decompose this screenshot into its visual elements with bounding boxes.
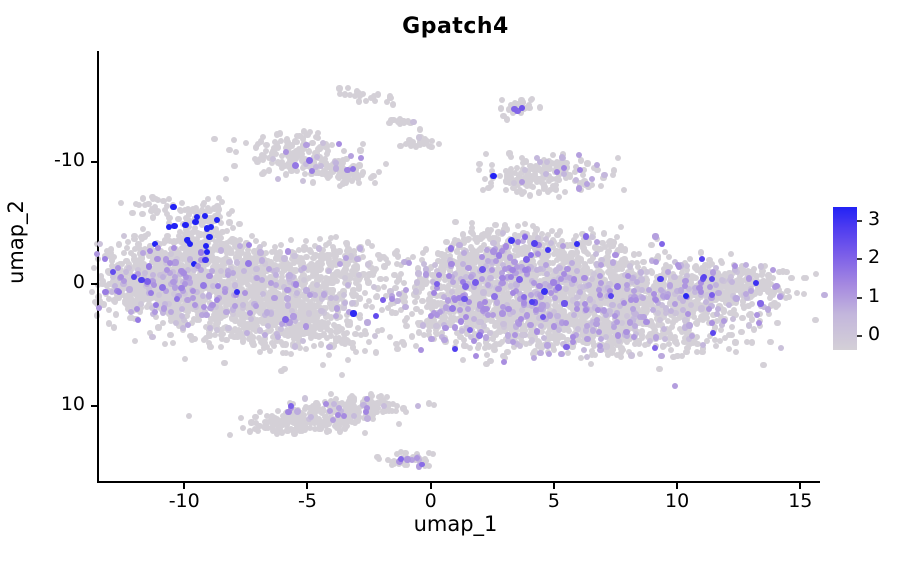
scatter-point — [339, 372, 345, 378]
scatter-point — [250, 334, 256, 340]
scatter-point — [162, 237, 168, 243]
scatter-point — [767, 339, 773, 345]
scatter-point — [741, 305, 747, 311]
scatter-point — [726, 346, 732, 352]
scatter-point — [345, 357, 351, 363]
scatter-point — [173, 320, 179, 326]
scatter-point — [372, 333, 378, 339]
scatter-point — [563, 320, 569, 326]
scatter-point — [685, 311, 691, 317]
scatter-point — [306, 310, 312, 316]
scatter-point — [657, 276, 663, 282]
scatter-point — [636, 251, 642, 257]
scatter-point — [185, 322, 191, 328]
scatter-point — [288, 237, 294, 243]
scatter-point — [637, 351, 643, 357]
scatter-point — [168, 251, 174, 257]
scatter-point — [106, 307, 112, 313]
scatter-point — [383, 276, 389, 282]
scatter-point — [179, 200, 185, 206]
scatter-point — [541, 335, 547, 341]
scatter-point — [342, 331, 348, 337]
scatter-point — [788, 275, 794, 281]
scatter-point — [284, 295, 290, 301]
scatter-point — [450, 316, 456, 322]
scatter-point — [420, 250, 426, 256]
scatter-point — [402, 304, 408, 310]
scatter-point — [206, 208, 212, 214]
scatter-point — [551, 323, 557, 329]
scatter-point — [235, 252, 241, 258]
scatter-point — [639, 332, 645, 338]
scatter-point — [435, 251, 441, 257]
scatter-point — [185, 206, 191, 212]
scatter-point — [363, 303, 369, 309]
scatter-point — [738, 329, 744, 335]
scatter-point — [285, 248, 291, 254]
scatter-point — [142, 270, 148, 276]
scatter-point — [522, 221, 528, 227]
scatter-point — [618, 345, 624, 351]
scatter-point — [179, 313, 185, 319]
scatter-point — [581, 347, 587, 353]
scatter-point — [601, 318, 607, 324]
scatter-point — [139, 235, 145, 241]
scatter-point — [573, 233, 579, 239]
scatter-point — [218, 344, 224, 350]
scatter-point — [461, 342, 467, 348]
scatter-point — [96, 305, 102, 311]
scatter-point — [521, 300, 527, 306]
scatter-point — [534, 328, 540, 334]
scatter-point — [343, 255, 349, 261]
scatter-point — [328, 235, 334, 241]
scatter-point — [253, 238, 259, 244]
scatter-point — [179, 306, 185, 312]
scatter-point — [554, 232, 560, 238]
scatter-point — [244, 330, 250, 336]
scatter-point — [149, 334, 155, 340]
scatter-point — [330, 287, 336, 293]
scatter-point — [171, 223, 177, 229]
scatter-point — [331, 322, 337, 328]
scatter-point — [776, 269, 782, 275]
scatter-point — [170, 279, 176, 285]
scatter-point — [261, 345, 267, 351]
scatter-point — [263, 250, 269, 256]
scatter-point — [285, 302, 291, 308]
scatter-point — [469, 247, 475, 253]
scatter-point — [812, 317, 818, 323]
scatter-point — [214, 217, 220, 223]
scatter-point — [318, 341, 324, 347]
scatter-point — [192, 219, 198, 225]
scatter-point — [94, 251, 100, 257]
scatter-point — [260, 270, 266, 276]
scatter-point — [728, 251, 734, 257]
scatter-point — [203, 312, 209, 318]
scatter-point — [170, 204, 176, 210]
scatter-point — [593, 321, 599, 327]
scatter-point — [362, 290, 368, 296]
scatter-point — [710, 330, 716, 336]
scatter-point — [132, 338, 138, 344]
scatter-point — [452, 219, 458, 225]
scatter-point — [278, 242, 284, 248]
scatter-point — [760, 362, 766, 368]
scatter-point — [615, 332, 621, 338]
scatter-point — [457, 334, 463, 340]
scatter-point — [460, 231, 466, 237]
scatter-point — [389, 309, 395, 315]
scatter-point — [284, 287, 290, 293]
scatter-point — [321, 291, 327, 297]
scatter-point — [111, 297, 117, 303]
scatter-point — [774, 320, 780, 326]
scatter-point — [441, 284, 447, 290]
scatter-point — [540, 314, 546, 320]
scatter-point — [409, 311, 415, 317]
scatter-point — [369, 304, 375, 310]
scatter-point — [728, 332, 734, 338]
scatter-point — [394, 298, 400, 304]
scatter-point — [398, 271, 404, 277]
scatter-point — [612, 252, 618, 258]
scatter-point — [666, 254, 672, 260]
scatter-point — [621, 300, 627, 306]
scatter-point — [601, 230, 607, 236]
scatter-point — [201, 304, 207, 310]
scatter-point — [246, 242, 252, 248]
scatter-point — [280, 350, 286, 356]
scatter-point — [166, 224, 172, 230]
scatter-point — [171, 245, 177, 251]
scatter-point — [153, 302, 159, 308]
scatter-point — [116, 289, 122, 295]
scatter-point — [739, 315, 745, 321]
scatter-point — [344, 262, 350, 268]
scatter-point — [729, 324, 735, 330]
scatter-point — [222, 289, 228, 295]
scatter-point — [318, 308, 324, 314]
scatter-point — [640, 259, 646, 265]
scatter-point — [418, 285, 424, 291]
scatter-point — [544, 342, 550, 348]
scatter-point — [342, 275, 348, 281]
scatter-point — [465, 236, 471, 242]
scatter-point — [162, 341, 168, 347]
scatter-point — [395, 253, 401, 259]
scatter-point — [476, 319, 482, 325]
scatter-point — [215, 211, 221, 217]
scatter-point — [399, 339, 405, 345]
scatter-point — [618, 224, 624, 230]
scatter-point — [167, 332, 173, 338]
scatter-point — [260, 284, 266, 290]
scatter-point — [332, 252, 338, 258]
scatter-point — [749, 339, 755, 345]
scatter-point — [104, 248, 110, 254]
scatter-point — [281, 255, 287, 261]
scatter-point — [351, 264, 357, 270]
scatter-point — [236, 327, 242, 333]
scatter-point — [200, 202, 206, 208]
scatter-point — [599, 240, 605, 246]
scatter-point — [373, 266, 379, 272]
scatter-point — [394, 346, 400, 352]
scatter-point — [327, 278, 333, 284]
scatter-point — [164, 267, 170, 273]
scatter-point — [420, 322, 426, 328]
scatter-point — [419, 298, 425, 304]
scatter-point — [373, 349, 379, 355]
scatter-point — [155, 324, 161, 330]
scatter-point — [366, 339, 372, 345]
scatter-point — [205, 196, 211, 202]
scatter-point — [182, 222, 188, 228]
scatter-point — [623, 329, 629, 335]
scatter-point — [345, 282, 351, 288]
scatter-point — [320, 362, 326, 368]
scatter-point — [154, 256, 160, 262]
scatter-point — [113, 311, 119, 317]
scatter-point — [350, 287, 356, 293]
scatter-point — [253, 266, 259, 272]
scatter-point — [684, 345, 690, 351]
umap-feature-plot: Gpatch4 -10-5051015 100-10 umap_1 umap_2… — [0, 0, 911, 562]
scatter-point — [146, 263, 152, 269]
scatter-point — [123, 269, 129, 275]
scatter-point — [267, 348, 273, 354]
scatter-point — [334, 305, 340, 311]
scatter-point — [147, 248, 153, 254]
scatter-point — [160, 198, 166, 204]
scatter-point — [221, 360, 227, 366]
scatter-point — [172, 284, 178, 290]
scatter-point — [218, 247, 224, 253]
scatter-point — [515, 252, 521, 258]
scatter-point — [733, 349, 739, 355]
scatter-point — [202, 213, 208, 219]
scatter-point — [102, 256, 108, 262]
scatter-point — [821, 292, 827, 298]
scatter-point — [207, 325, 213, 331]
scatter-point — [674, 353, 680, 359]
scatter-point — [593, 251, 599, 257]
scatter-point — [656, 366, 662, 372]
scatter-point — [553, 248, 559, 254]
scatter-point — [598, 336, 604, 342]
scatter-point — [548, 290, 554, 296]
scatter-point — [206, 292, 212, 298]
scatter-point — [232, 303, 238, 309]
scatter-point — [391, 272, 397, 278]
scatter-point — [260, 338, 266, 344]
scatter-point — [801, 291, 807, 297]
scatter-point — [150, 214, 156, 220]
scatter-point — [271, 343, 277, 349]
scatter-point — [182, 356, 188, 362]
scatter-point — [268, 280, 274, 286]
scatter-point — [290, 313, 296, 319]
scatter-point — [198, 249, 204, 255]
scatter-point — [333, 313, 339, 319]
scatter-point — [326, 352, 332, 358]
scatter-point — [317, 236, 323, 242]
scatter-point — [713, 343, 719, 349]
scatter-point — [480, 289, 486, 295]
scatter-point — [116, 241, 122, 247]
scatter-point — [487, 358, 493, 364]
scatter-point — [379, 307, 385, 313]
scatter-point — [152, 309, 158, 315]
scatter-point — [558, 351, 564, 357]
scatter-point — [428, 336, 434, 342]
scatter-point — [352, 331, 358, 337]
scatter-point — [214, 297, 220, 303]
scatter-point — [794, 290, 800, 296]
scatter-point — [282, 341, 288, 347]
scatter-point — [668, 347, 674, 353]
scatter-point — [539, 302, 545, 308]
scatter-point — [721, 307, 727, 313]
scatter-point — [172, 259, 178, 265]
scatter-point — [460, 357, 466, 363]
scatter-point — [129, 210, 135, 216]
scatter-point — [131, 236, 137, 242]
scatter-point — [232, 318, 238, 324]
scatter-point — [410, 254, 416, 260]
scatter-point — [695, 318, 701, 324]
scatter-point — [565, 350, 571, 356]
scatter-point — [588, 361, 594, 367]
scatter-point — [234, 289, 240, 295]
scatter-point — [344, 338, 350, 344]
scatter-point — [273, 282, 279, 288]
scatter-point — [582, 301, 588, 307]
scatter-point — [311, 343, 317, 349]
scatter-point — [403, 323, 409, 329]
scatter-point — [140, 195, 146, 201]
scatter-point — [230, 225, 236, 231]
scatter-point — [264, 309, 270, 315]
scatter-point — [652, 345, 658, 351]
scatter-point — [665, 269, 671, 275]
scatter-point — [278, 368, 284, 374]
scatter-point — [715, 306, 721, 312]
scatter-point — [118, 200, 124, 206]
scatter-point — [574, 249, 580, 255]
scatter-point — [510, 339, 516, 345]
scatter-point — [364, 319, 370, 325]
scatter-point — [561, 300, 567, 306]
scatter-point — [698, 305, 704, 311]
scatter-point — [226, 211, 232, 217]
scatter-point — [307, 292, 313, 298]
scatter-point — [786, 294, 792, 300]
scatter-point — [523, 341, 529, 347]
scatter-point — [200, 293, 206, 299]
scatter-point — [242, 290, 248, 296]
scatter-point — [316, 333, 322, 339]
plot-area — [98, 52, 820, 482]
scatter-point — [214, 327, 220, 333]
scatter-point — [184, 237, 190, 243]
scatter-point — [225, 245, 231, 251]
scatter-point — [365, 239, 371, 245]
scatter-point — [241, 268, 247, 274]
scatter-point — [358, 332, 364, 338]
scatter-point — [257, 249, 263, 255]
scatter-point — [693, 263, 699, 269]
scatter-point — [309, 329, 315, 335]
scatter-point — [783, 269, 789, 275]
scatter-point — [226, 259, 232, 265]
scatter-point — [676, 315, 682, 321]
scatter-point — [184, 216, 190, 222]
scatter-point — [140, 250, 146, 256]
scatter-point — [223, 309, 229, 315]
scatter-point — [97, 241, 103, 247]
scatter-point — [135, 317, 141, 323]
scatter-point — [450, 279, 456, 285]
scatter-point — [374, 293, 380, 299]
scatter-point — [373, 313, 379, 319]
scatter-point — [609, 302, 615, 308]
scatter-point — [665, 318, 671, 324]
page-title: Gpatch4 — [0, 14, 911, 39]
scatter-point — [347, 319, 353, 325]
scatter-point — [570, 334, 576, 340]
scatter-point — [206, 273, 212, 279]
scatter-point — [315, 260, 321, 266]
scatter-point — [387, 334, 393, 340]
scatter-point — [471, 338, 477, 344]
scatter-point — [240, 338, 246, 344]
scatter-point — [239, 318, 245, 324]
scatter-point — [293, 281, 299, 287]
scatter-point — [286, 272, 292, 278]
scatter-point — [126, 286, 132, 292]
scatter-point — [326, 344, 332, 350]
scatter-point — [653, 297, 659, 303]
scatter-point — [385, 260, 391, 266]
scatter-point — [187, 333, 193, 339]
scatter-point — [138, 277, 144, 283]
scatter-point — [176, 233, 182, 239]
scatter-point — [354, 256, 360, 262]
scatter-point — [303, 323, 309, 329]
scatter-point — [209, 302, 215, 308]
scatter-point — [813, 271, 819, 277]
scatter-point — [170, 340, 176, 346]
scatter-point — [349, 300, 355, 306]
scatter-point — [746, 322, 752, 328]
scatter-point — [121, 233, 127, 239]
scatter-point — [303, 238, 309, 244]
scatter-point — [608, 293, 614, 299]
scatter-point — [254, 275, 260, 281]
scatter-point — [409, 333, 415, 339]
scatter-point — [754, 312, 760, 318]
scatter-point — [312, 269, 318, 275]
scatter-point — [501, 359, 507, 365]
scatter-point — [236, 221, 242, 227]
scatter-point — [732, 339, 738, 345]
scatter-point — [126, 301, 132, 307]
scatter-point — [401, 280, 407, 286]
scatter-point — [644, 269, 650, 275]
